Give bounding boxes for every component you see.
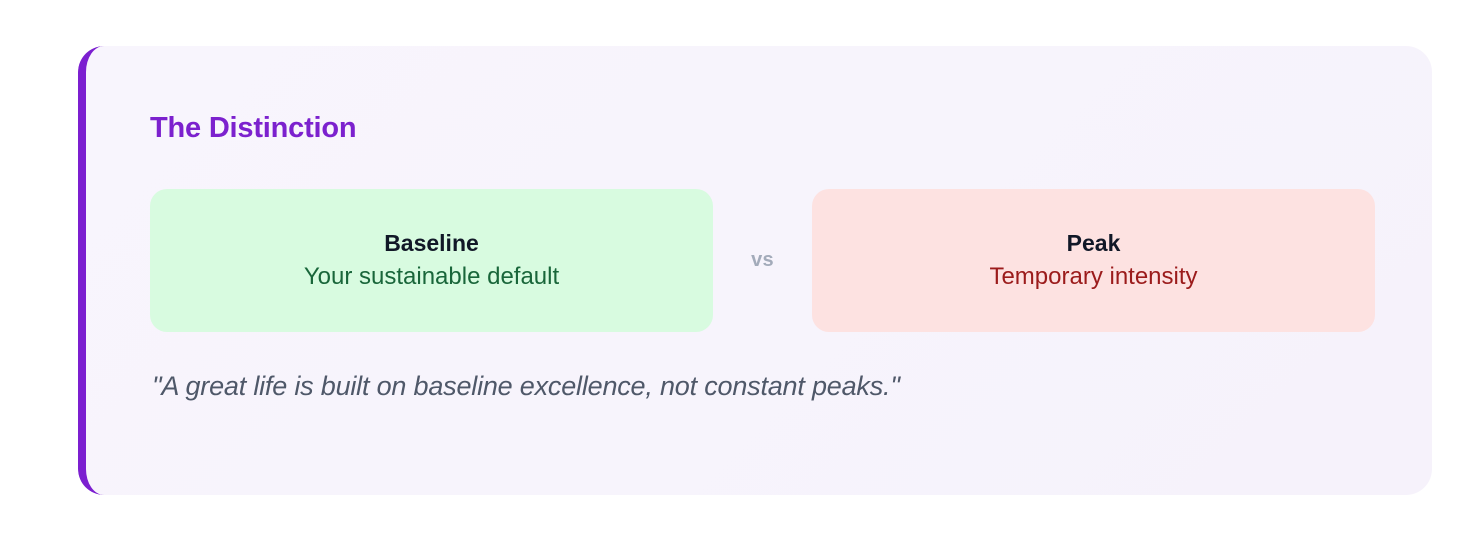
screen-canvas: The Distinction Baseline Your sustainabl… — [0, 0, 1466, 534]
comparison-card-baseline-subtitle: Your sustainable default — [304, 263, 559, 291]
comparison-card-peak-subtitle: Temporary intensity — [989, 263, 1197, 291]
comparison-row: Baseline Your sustainable default vs Pea… — [150, 189, 1375, 332]
page-title: The Distinction — [150, 114, 356, 143]
distinction-card: The Distinction Baseline Your sustainabl… — [78, 46, 1432, 495]
versus-divider-label: vs — [713, 189, 812, 332]
comparison-card-baseline-title: Baseline — [384, 230, 479, 256]
card-content: The Distinction Baseline Your sustainabl… — [150, 46, 1432, 495]
comparison-card-baseline: Baseline Your sustainable default — [150, 189, 713, 332]
comparison-card-peak-title: Peak — [1067, 230, 1121, 256]
quote-text: "A great life is built on baseline excel… — [152, 370, 900, 402]
comparison-card-peak: Peak Temporary intensity — [812, 189, 1375, 332]
card-accent-bar — [78, 46, 104, 495]
